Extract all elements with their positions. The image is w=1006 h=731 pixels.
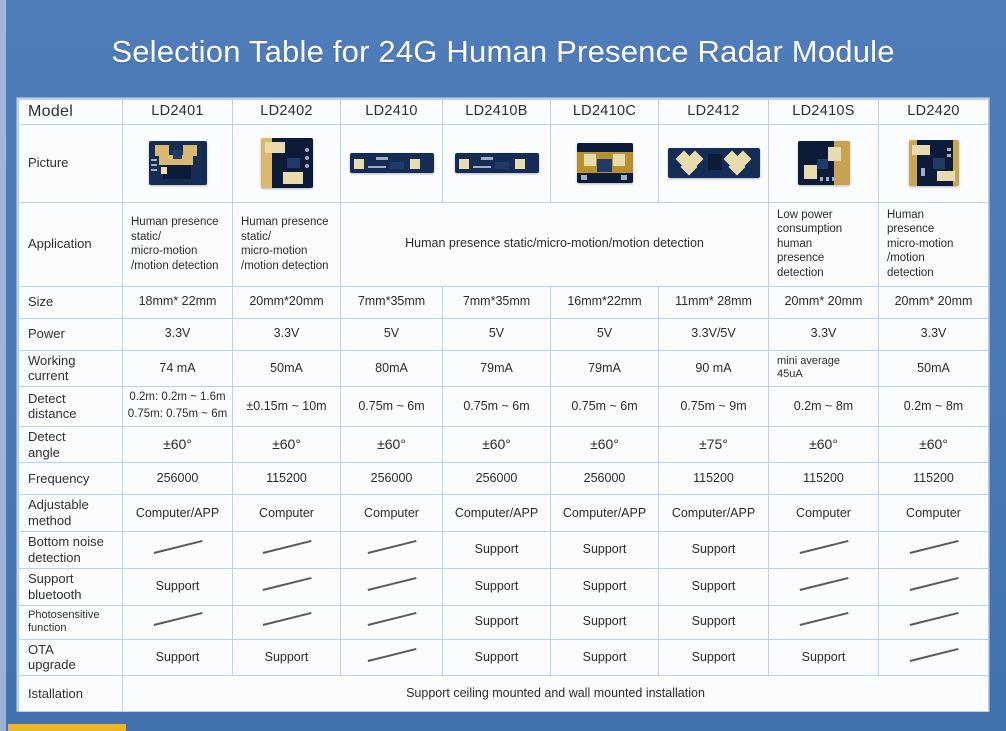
selection-table: Model LD2401 LD2402 LD2410 LD2410B LD241… [18,99,989,712]
power-ld2410b: 5V [443,318,551,350]
adjustable-method-ld2412: Computer/APP [659,495,769,532]
row-label-working-current: Working current [19,350,123,387]
bottom-noise-ld2420 [879,532,989,569]
frequency-ld2410s: 115200 [769,463,879,495]
bottom-noise-ld2412: Support [659,532,769,569]
not-supported-slash-icon [908,647,960,663]
size-ld2401: 18mm* 22mm [123,286,233,318]
detect-angle-ld2410s: ±60° [769,426,879,463]
not-supported-slash-icon [152,540,204,556]
detect-angle-ld2401: ±60° [123,426,233,463]
pcb-board-ld2402 [261,138,313,188]
bluetooth-ld2410s [769,568,879,605]
picture-ld2410 [341,124,443,202]
pcb-board-ld2401 [149,141,207,185]
power-ld2410c: 5V [551,318,659,350]
pcb-board-ld2410 [350,153,434,173]
picture-ld2420 [879,124,989,202]
bluetooth-ld2410 [341,568,443,605]
application-ld2402: Human presence static/ micro-motion /mot… [233,202,341,286]
ota-ld2402: Support [233,639,341,676]
pcb-board-ld2412 [668,148,760,178]
table-row-detect-distance: Detect distance 0.2m: 0.2m ~ 1.6m 0.75m:… [19,387,989,427]
application-ld2410s: Low power consumption human presence det… [769,202,879,286]
working-current-ld2420: 50mA [879,350,989,387]
row-label-detect-distance: Detect distance [19,387,123,427]
frequency-ld2412: 115200 [659,463,769,495]
picture-ld2410b [443,124,551,202]
ota-ld2410b: Support [443,639,551,676]
page-title: Selection Table for 24G Human Presence R… [0,34,1006,70]
size-ld2410: 7mm*35mm [341,286,443,318]
application-merged-2410-2412: Human presence static/micro-motion/motio… [341,202,769,286]
picture-ld2401 [123,124,233,202]
ota-ld2410s: Support [769,639,879,676]
bluetooth-ld2402 [233,568,341,605]
detect-distance-ld2412: 0.75m ~ 9m [659,387,769,427]
detect-angle-ld2410b: ±60° [443,426,551,463]
adjustable-method-ld2410c: Computer/APP [551,495,659,532]
row-label-application: Application [19,202,123,286]
ota-ld2412: Support [659,639,769,676]
size-ld2412: 11mm* 28mm [659,286,769,318]
frequency-ld2410b: 256000 [443,463,551,495]
frequency-ld2420: 115200 [879,463,989,495]
ota-ld2410 [341,639,443,676]
model-ld2410: LD2410 [341,100,443,125]
row-label-size: Size [19,286,123,318]
adjustable-method-ld2410: Computer [341,495,443,532]
detect-distance-ld2402: ±0.15m ~ 10m [233,387,341,427]
bottom-noise-ld2402 [233,532,341,569]
bluetooth-ld2401: Support [123,568,233,605]
frequency-ld2410c: 256000 [551,463,659,495]
table-row-adjustable-method: Adjustable method Computer/APP Computer … [19,495,989,532]
bluetooth-ld2410c: Support [551,568,659,605]
pcb-board-ld2420 [909,140,959,186]
model-ld2412: LD2412 [659,100,769,125]
frequency-ld2410: 256000 [341,463,443,495]
table-row-photosensitive-function: Photosensitive function Support Support … [19,605,989,639]
photosensitive-ld2420 [879,605,989,639]
ota-ld2420 [879,639,989,676]
picture-ld2402 [233,124,341,202]
detect-angle-ld2420: ±60° [879,426,989,463]
table-row-application: Application Human presence static/ micro… [19,202,989,286]
frequency-ld2401: 256000 [123,463,233,495]
model-ld2402: LD2402 [233,100,341,125]
not-supported-slash-icon [908,577,960,593]
size-ld2402: 20mm*20mm [233,286,341,318]
photosensitive-ld2402 [233,605,341,639]
detect-angle-ld2412: ±75° [659,426,769,463]
power-ld2402: 3.3V [233,318,341,350]
bottom-noise-ld2410c: Support [551,532,659,569]
frequency-ld2402: 115200 [233,463,341,495]
bottom-noise-ld2410b: Support [443,532,551,569]
working-current-ld2401: 74 mA [123,350,233,387]
photosensitive-ld2410c: Support [551,605,659,639]
bluetooth-ld2420 [879,568,989,605]
row-label-support-bluetooth: Support bluetooth [19,568,123,605]
not-supported-slash-icon [798,577,850,593]
working-current-ld2410b: 79mA [443,350,551,387]
detect-angle-ld2410c: ±60° [551,426,659,463]
row-label-bottom-noise-detection: Bottom noise detection [19,532,123,569]
table-row-model: Model LD2401 LD2402 LD2410 LD2410B LD241… [19,100,989,125]
application-ld2401: Human presence static/ micro-motion /mot… [123,202,233,286]
application-ld2420: Human presence micro-motion /motion dete… [879,202,989,286]
row-label-ota-upgrade: OTA upgrade [19,639,123,676]
table-row-frequency: Frequency 256000 115200 256000 256000 25… [19,463,989,495]
detect-distance-ld2420: 0.2m ~ 8m [879,387,989,427]
size-ld2420: 20mm* 20mm [879,286,989,318]
power-ld2412: 3.3V/5V [659,318,769,350]
adjustable-method-ld2401: Computer/APP [123,495,233,532]
photosensitive-ld2401 [123,605,233,639]
installation-value: Support ceiling mounted and wall mounted… [123,676,989,712]
pcb-board-ld2410c [577,143,633,183]
table-row-detect-angle: Detect angle ±60° ±60° ±60° ±60° ±60° ±7… [19,426,989,463]
accent-bar [8,724,126,731]
detect-angle-ld2410: ±60° [341,426,443,463]
table-row-working-current: Working current 74 mA 50mA 80mA 79mA 79m… [19,350,989,387]
bottom-noise-ld2410 [341,532,443,569]
photosensitive-ld2410 [341,605,443,639]
power-ld2401: 3.3V [123,318,233,350]
not-supported-slash-icon [366,540,418,556]
adjustable-method-ld2402: Computer [233,495,341,532]
not-supported-slash-icon [798,540,850,556]
table-row-picture: Picture [19,124,989,202]
model-ld2410c: LD2410C [551,100,659,125]
photosensitive-ld2410b: Support [443,605,551,639]
working-current-ld2412: 90 mA [659,350,769,387]
table-row-support-bluetooth: Support bluetooth Support Support Suppor… [19,568,989,605]
row-label-frequency: Frequency [19,463,123,495]
detect-distance-ld2401: 0.2m: 0.2m ~ 1.6m 0.75m: 0.75m ~ 6m [123,387,233,427]
working-current-ld2410c: 79mA [551,350,659,387]
not-supported-slash-icon [366,647,418,663]
picture-ld2410c [551,124,659,202]
row-label-model: Model [19,100,123,125]
row-label-installation: Istallation [19,676,123,712]
picture-ld2412 [659,124,769,202]
not-supported-slash-icon [261,612,313,628]
adjustable-method-ld2410s: Computer [769,495,879,532]
photosensitive-ld2412: Support [659,605,769,639]
power-ld2410s: 3.3V [769,318,879,350]
bottom-noise-ld2410s [769,532,879,569]
row-label-detect-angle: Detect angle [19,426,123,463]
size-ld2410c: 16mm*22mm [551,286,659,318]
working-current-ld2410: 80mA [341,350,443,387]
pcb-board-ld2410s [798,141,850,185]
bottom-noise-ld2401 [123,532,233,569]
power-ld2410: 5V [341,318,443,350]
photosensitive-ld2410s [769,605,879,639]
detect-distance-ld2410b: 0.75m ~ 6m [443,387,551,427]
row-label-power: Power [19,318,123,350]
row-label-adjustable-method: Adjustable method [19,495,123,532]
power-ld2420: 3.3V [879,318,989,350]
not-supported-slash-icon [366,577,418,593]
row-label-photosensitive-function: Photosensitive function [19,605,123,639]
not-supported-slash-icon [908,540,960,556]
row-label-picture: Picture [19,124,123,202]
bluetooth-ld2410b: Support [443,568,551,605]
bluetooth-ld2412: Support [659,568,769,605]
adjustable-method-ld2420: Computer [879,495,989,532]
not-supported-slash-icon [261,540,313,556]
ota-ld2410c: Support [551,639,659,676]
model-ld2420: LD2420 [879,100,989,125]
pcb-board-ld2410b [455,153,539,173]
model-ld2410s: LD2410S [769,100,879,125]
model-ld2401: LD2401 [123,100,233,125]
working-current-ld2410s: mini average 45uA [769,350,879,387]
not-supported-slash-icon [152,612,204,628]
table-row-size: Size 18mm* 22mm 20mm*20mm 7mm*35mm 7mm*3… [19,286,989,318]
detect-angle-ld2402: ±60° [233,426,341,463]
table-row-power: Power 3.3V 3.3V 5V 5V 5V 3.3V/5V 3.3V 3.… [19,318,989,350]
not-supported-slash-icon [798,612,850,628]
table-row-ota-upgrade: OTA upgrade Support Support Support Supp… [19,639,989,676]
model-ld2410b: LD2410B [443,100,551,125]
selection-table-container: Model LD2401 LD2402 LD2410 LD2410B LD241… [17,98,989,711]
detect-distance-ld2410s: 0.2m ~ 8m [769,387,879,427]
not-supported-slash-icon [366,612,418,628]
working-current-ld2402: 50mA [233,350,341,387]
adjustable-method-ld2410b: Computer/APP [443,495,551,532]
table-row-bottom-noise-detection: Bottom noise detection Support Support S… [19,532,989,569]
size-ld2410s: 20mm* 20mm [769,286,879,318]
detect-distance-ld2410c: 0.75m ~ 6m [551,387,659,427]
ota-ld2401: Support [123,639,233,676]
table-row-installation: Istallation Support ceiling mounted and … [19,676,989,712]
size-ld2410b: 7mm*35mm [443,286,551,318]
not-supported-slash-icon [261,577,313,593]
picture-ld2410s [769,124,879,202]
not-supported-slash-icon [908,612,960,628]
detect-distance-ld2410: 0.75m ~ 6m [341,387,443,427]
